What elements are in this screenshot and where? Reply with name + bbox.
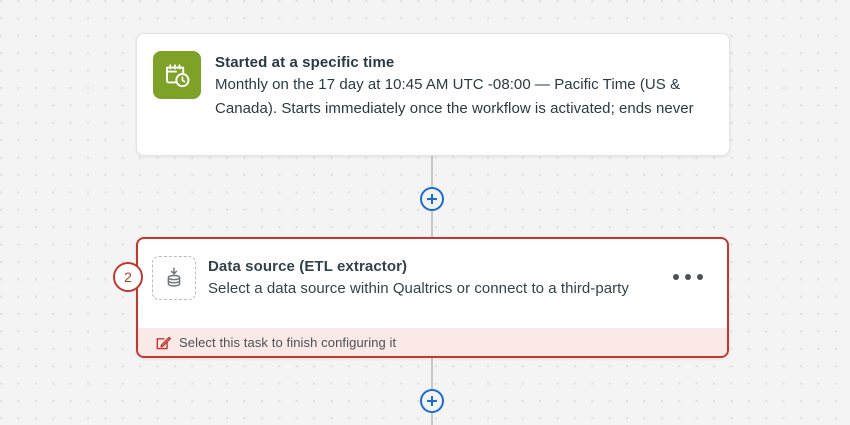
add-step-above-button[interactable] <box>420 187 444 211</box>
calendar-clock-icon <box>153 51 201 99</box>
kebab-dot <box>697 274 703 280</box>
kebab-menu-icon[interactable] <box>673 272 703 282</box>
task-title: Data source (ETL extractor) <box>208 256 711 277</box>
trigger-title: Started at a specific time <box>215 52 713 73</box>
trigger-description: Monthly on the 17 day at 10:45 AM UTC -0… <box>215 73 713 121</box>
workflow-node-trigger[interactable]: Started at a specific time Monthly on th… <box>136 33 730 156</box>
workflow-node-task[interactable]: Data source (ETL extractor) Select a dat… <box>136 237 729 358</box>
task-description: Select a data source within Qualtrics or… <box>208 277 645 301</box>
add-step-below-button[interactable] <box>420 389 444 413</box>
edit-pencil-icon <box>156 335 171 350</box>
step-number-badge: 2 <box>113 262 143 292</box>
kebab-dot <box>685 274 691 280</box>
workflow-canvas: Started at a specific time Monthly on th… <box>0 0 850 425</box>
task-warning-bar: Select this task to finish configuring i… <box>138 328 727 356</box>
database-import-icon <box>152 256 196 300</box>
task-warning-text: Select this task to finish configuring i… <box>179 335 396 350</box>
trigger-text-block: Started at a specific time Monthly on th… <box>215 51 713 139</box>
kebab-dot <box>673 274 679 280</box>
task-text-block: Data source (ETL extractor) Select a dat… <box>208 255 711 301</box>
task-body: Data source (ETL extractor) Select a dat… <box>138 239 727 311</box>
